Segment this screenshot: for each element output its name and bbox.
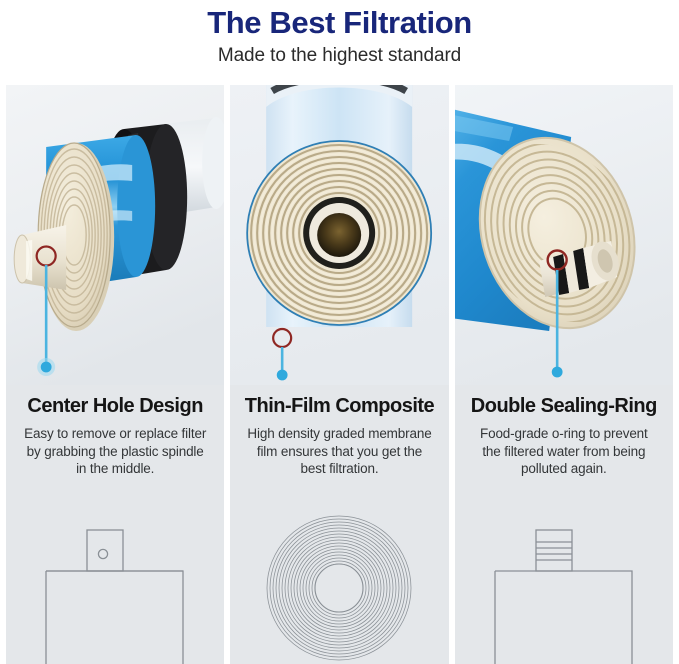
panel-body: High density graded membrane film ensure…	[236, 425, 442, 478]
page-title: The Best Filtration	[0, 4, 679, 42]
callout-dot	[277, 370, 288, 381]
callout-dot	[41, 362, 52, 373]
panel-body: Food-grade o-ring to prevent the filtere…	[461, 425, 667, 478]
line-art-diagram-center-hole	[6, 504, 224, 664]
page-subtitle: Made to the highest standard	[0, 42, 679, 70]
product-photo-thin-film	[230, 85, 448, 385]
panel-thin-film-composite: Thin-Film Composite High density graded …	[230, 85, 448, 664]
panel-double-sealing-ring: Double Sealing-Ring Food-grade o-ring to…	[455, 85, 673, 664]
header: The Best Filtration Made to the highest …	[0, 0, 679, 70]
panel-text-center-hole: Center Hole Design Easy to remove or rep…	[6, 385, 224, 478]
line-art-diagram-thin-film	[230, 504, 448, 664]
panel-center-hole-design: Center Hole Design Easy to remove or rep…	[6, 85, 224, 664]
panel-heading: Thin-Film Composite	[236, 393, 442, 419]
infographic-page: The Best Filtration Made to the highest …	[0, 0, 679, 664]
spiral-membrane-rings	[247, 141, 431, 325]
panel-text-double-sealing-ring: Double Sealing-Ring Food-grade o-ring to…	[455, 385, 673, 478]
center-spindle	[14, 225, 66, 290]
line-art-diagram-double-sealing-ring	[455, 504, 673, 664]
feature-panels: Center Hole Design Easy to remove or rep…	[0, 85, 679, 664]
product-photo-center-hole	[6, 85, 224, 385]
product-photo-double-sealing-ring	[455, 85, 673, 385]
panel-heading: Double Sealing-Ring	[461, 393, 667, 419]
callout-dot	[551, 367, 562, 378]
panel-heading: Center Hole Design	[12, 393, 218, 419]
panel-body: Easy to remove or replace filter by grab…	[12, 425, 218, 478]
panel-text-thin-film: Thin-Film Composite High density graded …	[230, 385, 448, 478]
